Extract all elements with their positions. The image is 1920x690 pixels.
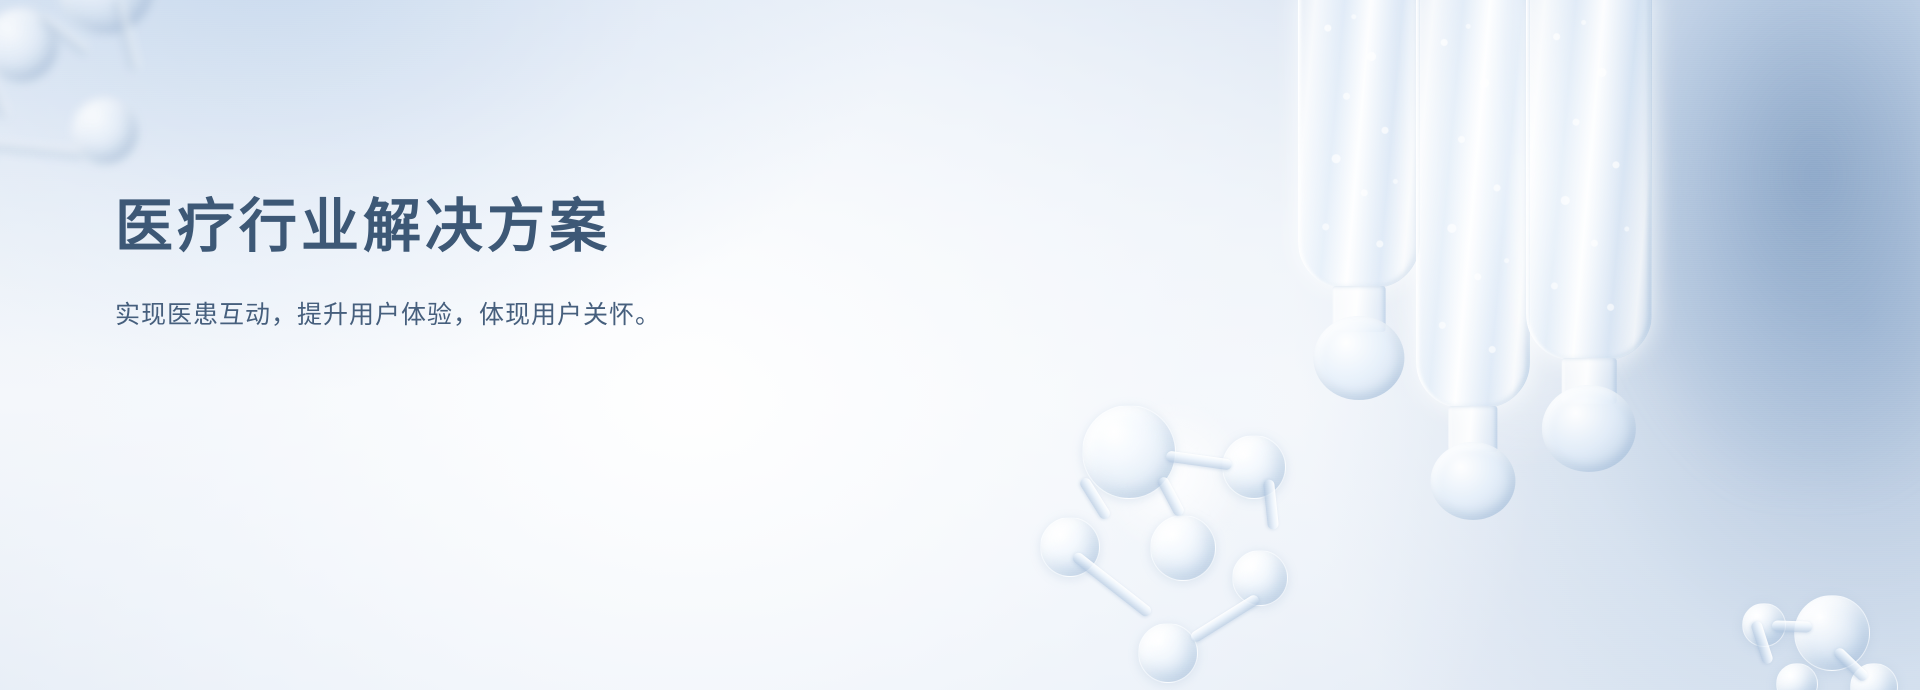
molecule-node [1742, 603, 1786, 647]
molecule-node [1138, 623, 1198, 683]
molecule-bond [39, 13, 90, 56]
ampoule-bubbles [1307, 0, 1411, 278]
ampoule-shadow [1610, 0, 1920, 488]
molecule-bond [0, 58, 10, 119]
ampoule-bubbles [1425, 0, 1521, 398]
molecule-node [1850, 663, 1898, 690]
ampoule-neck [1448, 406, 1497, 452]
molecule-node [1150, 515, 1216, 581]
molecule-bond [1772, 620, 1812, 632]
molecule-node [1232, 550, 1288, 606]
molecule-bond [0, 139, 84, 159]
molecule-node [1082, 405, 1176, 499]
ampoule-bubbles [1535, 0, 1643, 350]
ampoule-neck [1562, 358, 1617, 404]
banner-artwork [0, 0, 1920, 690]
molecule-node [1040, 517, 1100, 577]
ampoule-neck [1333, 286, 1386, 332]
molecule-bond [1078, 476, 1112, 521]
molecule-center-icon [1010, 395, 1310, 690]
molecule-node [0, 8, 58, 82]
molecule-node [58, 0, 154, 34]
molecule-node [1776, 663, 1818, 690]
page-title: 医疗行业解决方案 [115, 195, 1015, 260]
glass-ampoules-icon [1220, 0, 1920, 548]
ampoule [1298, 0, 1420, 288]
ampoule [1526, 0, 1652, 360]
molecule-bond [1189, 593, 1261, 644]
ampoule-bulb [1430, 442, 1515, 520]
molecule-node [1794, 595, 1870, 671]
molecule-bond [0, 0, 12, 3]
hero-banner: 医疗行业解决方案 实现医患互动，提升用户体验，体现用户关怀。 [0, 0, 1920, 690]
molecule-bond [1263, 479, 1279, 530]
molecule-bond [114, 0, 141, 71]
banner-content: 医疗行业解决方案 实现医患互动，提升用户体验，体现用户关怀。 [115, 195, 1015, 333]
page-subtitle: 实现医患互动，提升用户体验，体现用户关怀。 [115, 298, 1015, 333]
texture-overlay [0, 0, 1920, 690]
ampoule-bulb [1542, 385, 1636, 472]
ampoule [1416, 0, 1530, 408]
molecule-node [1222, 435, 1286, 499]
molecule-bond [1166, 450, 1233, 470]
molecule-bond [1071, 551, 1153, 619]
ampoule-bulb [1313, 316, 1404, 400]
ampoule-backlight [1370, 0, 1670, 468]
molecule-bond [1832, 646, 1870, 683]
molecule-bond [1750, 620, 1774, 665]
molecule-glow [1085, 400, 1255, 550]
molecule-bottom-right-icon [1690, 545, 1920, 690]
molecule-bond [1156, 475, 1185, 517]
molecule-node [72, 98, 138, 164]
